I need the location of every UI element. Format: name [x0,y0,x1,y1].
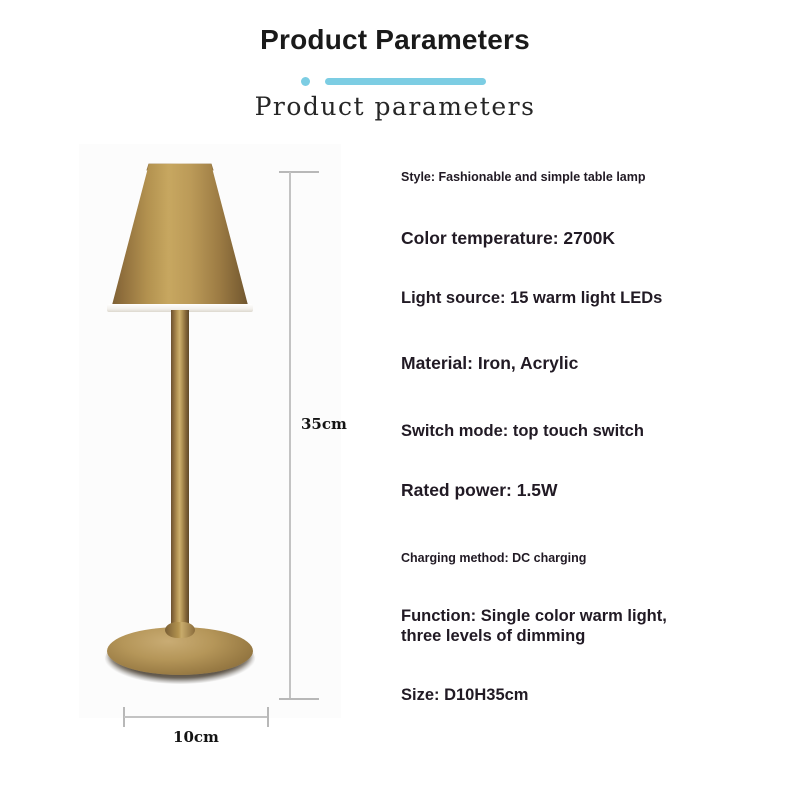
height-dimension-label: 35cm [301,415,347,433]
width-dimension-label: 10cm [122,728,270,746]
spec-item: Style: Fashionable and simple table lamp [401,170,646,185]
height-dimension-tick-bottom [279,698,319,700]
spec-item: Color temperature: 2700K [401,228,615,249]
width-dimension-line [124,716,268,718]
spec-item: Function: Single color warm light, three… [401,606,667,646]
title-divider [0,76,790,88]
lamp-pole [171,310,189,642]
spec-item: Charging method: DC charging [401,551,586,566]
page-header: Product Parameters Product parameters [0,0,790,140]
divider-bar-icon [325,78,486,85]
specification-list: Style: Fashionable and simple table lamp… [401,160,741,720]
width-dimension: 10cm [122,706,270,746]
spec-item: Material: Iron, Acrylic [401,353,578,374]
lamp-base-collar [165,622,195,638]
height-dimension-tick-top [279,171,319,173]
width-dimension-tick-right [267,707,269,727]
spec-item: Switch mode: top touch switch [401,421,644,441]
spec-item: Size: D10H35cm [401,685,528,705]
page-title: Product Parameters [0,24,790,56]
page-subtitle: Product parameters [0,92,790,121]
lamp-shade [111,164,249,309]
spec-item: Rated power: 1.5W [401,480,558,501]
height-dimension-line [289,172,291,700]
divider-dot-icon [301,77,310,86]
spec-item: Light source: 15 warm light LEDs [401,288,662,308]
height-dimension: 35cm [279,170,323,702]
